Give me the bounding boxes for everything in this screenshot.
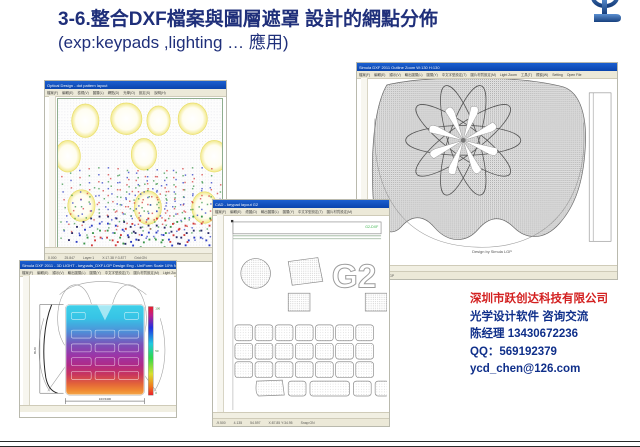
status-item: X:17.38 Y:3.877 [102, 256, 126, 260]
status-bar: -9.500 4.135 54.597 X:87.85 Y:34.95 Snap… [213, 418, 389, 426]
contact-person: 陈经理 13430672236 [470, 326, 640, 344]
horizontal-ruler [20, 405, 176, 412]
page-title: 3-6.整合DXF檔案與圖層遮罩 設計的網點分佈 (exp:keypads ,l… [58, 8, 478, 54]
keypad-cad-canvas[interactable]: G2-DXF G2 [227, 216, 387, 414]
svg-text:Design by Simula LGP: Design by Simula LGP [472, 249, 512, 254]
menu-item[interactable]: Open File [567, 73, 582, 77]
window-titlebar[interactable]: Simula DXF 2011 - 3D LIGHT - keypads_DXF… [20, 261, 176, 269]
svg-text:50: 50 [155, 349, 159, 353]
menu-item[interactable]: 檔案(F) [359, 72, 370, 77]
svg-text:103.5400: 103.5400 [99, 397, 112, 401]
window-title-text: CAD - keypad layout G2 [215, 202, 258, 207]
contact-qq: QQ：569192379 [470, 344, 640, 362]
status-bar: Design by Simula LGP [357, 271, 617, 279]
status-item: X:87.85 Y:34.95 [269, 421, 293, 425]
menu-item[interactable]: 網點(D) [108, 90, 120, 95]
menu-item[interactable]: 圖片材質設定(M) [470, 72, 495, 77]
title-line-primary: 3-6.整合DXF檔案與圖層遮罩 設計的網點分佈 [58, 8, 478, 31]
company-name: 深圳市跃创达科技有限公司 [470, 291, 640, 309]
menu-bar[interactable]: 檔案(F) 編輯(E) 檢視(V) 圖層(L) 網點(D) 光學(O) 設定(S… [45, 89, 226, 97]
menu-item[interactable]: Light Zoom [500, 73, 517, 77]
status-item: Grid:ON [134, 256, 146, 260]
menu-item[interactable]: Setting [552, 73, 563, 77]
menu-item[interactable]: 圖層(L) [93, 90, 104, 95]
menu-item[interactable]: 說明(H) [154, 90, 166, 95]
status-item: Snap:ON [301, 421, 315, 425]
flower-pattern-svg: Design by Simula LGP [369, 79, 615, 267]
status-item: 0.000 [48, 256, 57, 260]
status-item: 54.597 [250, 421, 260, 425]
keypad-layout-svg: G2-DXF G2 [227, 216, 387, 414]
menu-item[interactable]: 顯示(V) [389, 72, 400, 77]
menu-item[interactable]: 圖片材質設定(M) [327, 209, 352, 214]
g2-label: G2 [332, 258, 377, 295]
heatmap-canvas[interactable]: 100 50 0 103.5400 BL/D [30, 275, 174, 407]
window-titlebar[interactable]: Simula DXF 2011 Outline Zoom W:130 H:130 [357, 63, 617, 71]
menu-item[interactable]: 視窗(W) [536, 72, 548, 77]
menu-bar[interactable]: 檔案(F) 編輯(E) 繪圖(D) 輸出圖層(L) 圖層(Y) 中文字型設定(T… [213, 208, 389, 216]
window-titlebar[interactable]: Optical Design - dot pattern layout [45, 81, 226, 89]
title-line-secondary: (exp:keypads ,lighting … 應用) [58, 32, 478, 54]
heatmap-svg: 100 50 0 103.5400 BL/D [30, 275, 174, 407]
g2-brand-logo [582, 0, 628, 32]
menu-item[interactable]: 圖層(Y) [283, 209, 294, 214]
vertical-ruler [217, 215, 224, 414]
illumination-canvas[interactable]: Design by Simula LGP [369, 79, 615, 267]
menu-item[interactable]: 設定(S) [139, 90, 150, 95]
menu-item[interactable]: 中文字型設定(T) [298, 209, 323, 214]
window-title-text: Simula DXF 2011 - 3D LIGHT - keypads_DXF… [22, 263, 177, 268]
color-legend [148, 307, 153, 396]
menu-item[interactable]: 編輯(E) [374, 72, 385, 77]
status-item: 4.135 [234, 421, 243, 425]
keypad-cad-window[interactable]: CAD - keypad layout G2 檔案(F) 編輯(E) 繪圖(D)… [212, 199, 390, 427]
menu-item[interactable]: 圖層(Y) [426, 72, 437, 77]
dot-pattern-svg [58, 99, 222, 250]
menu-item[interactable]: 輸出圖層(L) [405, 72, 423, 77]
menu-bar[interactable]: 檔案(F) 編輯(E) 顯示(V) 輸出圖層(L) 圖層(Y) 中文字型設定(T… [357, 71, 617, 79]
status-item: 25.847 [65, 256, 75, 260]
menu-item[interactable]: 工具(T) [521, 72, 532, 77]
illumination-preview-window[interactable]: Simula DXF 2011 Outline Zoom W:130 H:130… [356, 62, 618, 280]
menu-item[interactable]: 檢視(V) [77, 90, 88, 95]
contact-email: ycd_chen@126.com [470, 361, 640, 379]
menu-item[interactable]: 檔案(F) [47, 90, 58, 95]
svg-text:100: 100 [155, 306, 160, 310]
menu-item[interactable]: 編輯(E) [62, 90, 73, 95]
vertical-ruler [49, 96, 56, 253]
window-title-text: Optical Design - dot pattern layout [47, 83, 107, 88]
menu-item[interactable]: 繪圖(D) [245, 209, 257, 214]
luminance-heatmap-window[interactable]: Simula DXF 2011 - 3D LIGHT - keypads_DXF… [19, 260, 177, 418]
presentation-slide: 3-6.整合DXF檔案與圖層遮罩 設計的網點分佈 (exp:keypads ,l… [0, 0, 640, 447]
svg-text:G2-DXF: G2-DXF [365, 225, 379, 229]
menu-item[interactable]: 輸出圖層(L) [261, 209, 279, 214]
menu-item[interactable]: 檔案(F) [215, 209, 226, 214]
dot-distribution-window[interactable]: Optical Design - dot pattern layout 檔案(F… [44, 80, 227, 262]
contact-info-block: 深圳市跃创达科技有限公司 光学设计软件 咨询交流 陈经理 13430672236… [470, 291, 640, 379]
window-titlebar[interactable]: CAD - keypad layout G2 [213, 200, 389, 208]
menu-item[interactable]: 光學(O) [123, 90, 135, 95]
menu-item[interactable]: 中文字型設定(T) [442, 72, 467, 77]
menu-item[interactable]: 編輯(E) [230, 209, 241, 214]
menu-item[interactable]: Light Zoom [163, 271, 177, 275]
status-item: Layer:1 [83, 256, 94, 260]
svg-text:BL/D: BL/D [33, 347, 37, 354]
slide-bottom-rule [0, 441, 640, 447]
window-title-text: Simula DXF 2011 Outline Zoom W:130 H:130 [359, 65, 440, 70]
vertical-ruler [23, 276, 30, 407]
dot-pattern-canvas[interactable] [57, 98, 223, 251]
business-line: 光学设计软件 咨询交流 [470, 309, 640, 327]
status-item: -9.500 [216, 421, 226, 425]
